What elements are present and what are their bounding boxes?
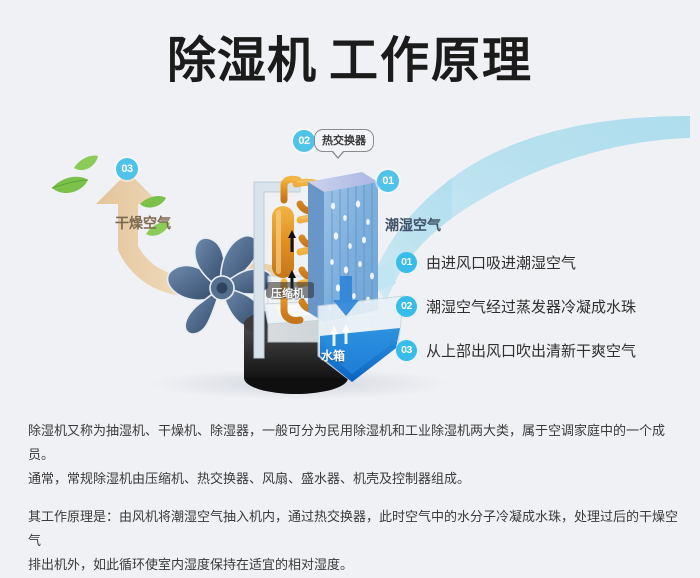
- page-root: 除湿机工作原理: [0, 0, 700, 566]
- legend-badge-03: 03: [396, 340, 417, 361]
- legend-item-03: 03 从上部出风口吹出清新干爽空气: [396, 338, 686, 362]
- label-compressor: 压缩机: [271, 285, 304, 301]
- paragraph-spacer: [28, 492, 678, 506]
- paragraph-1-line-1: 除湿机又称为抽湿机、干燥机、除湿器，一般可分为民用除湿机和工业除湿机两大类，属于…: [28, 420, 678, 468]
- label-humid-air: 潮湿空气: [385, 215, 441, 235]
- legend-item-02: 02 潮湿空气经过蒸发器冷凝成水珠: [396, 294, 686, 318]
- legend-text-01: 由进风口吸进潮湿空气: [426, 252, 576, 273]
- paragraph-1-line-2: 通常，常规除湿机由压缩机、热交换器、风扇、盛水器、机壳及控制器组成。: [28, 468, 678, 492]
- legend-item-01: 01 由进风口吸进潮湿空气: [396, 250, 686, 274]
- callout-heat-exchanger: 热交换器: [314, 129, 374, 152]
- label-dry-air: 干燥空气: [115, 213, 171, 233]
- title-part-1: 除湿机: [167, 34, 317, 88]
- title-part-2: 工作原理: [329, 34, 533, 88]
- page-title: 除湿机工作原理: [0, 33, 700, 89]
- description-block: 除湿机又称为抽湿机、干燥机、除湿器，一般可分为民用除湿机和工业除湿机两大类，属于…: [28, 420, 678, 578]
- paragraph-2-line-2: 排出机外，如此循环使室内湿度保持在适宜的相对湿度。: [28, 554, 678, 578]
- legend-list: 01 由进风口吸进潮湿空气 02 潮湿空气经过蒸发器冷凝成水珠 03 从上部出风…: [396, 250, 686, 382]
- diagram-badge-03: 03: [116, 158, 138, 180]
- diagram-badge-02: 02: [293, 130, 315, 152]
- legend-text-03: 从上部出风口吹出清新干爽空气: [426, 340, 636, 361]
- label-water-tank: 水箱: [321, 347, 345, 364]
- legend-badge-02: 02: [396, 296, 417, 317]
- paragraph-2-line-1: 其工作原理是：由风机将潮湿空气抽入机内，通过热交换器，此时空气中的水分子冷凝成水…: [28, 506, 678, 554]
- legend-text-02: 潮湿空气经过蒸发器冷凝成水珠: [426, 296, 636, 317]
- diagram-badge-01: 01: [377, 170, 399, 192]
- legend-badge-01: 01: [396, 252, 417, 273]
